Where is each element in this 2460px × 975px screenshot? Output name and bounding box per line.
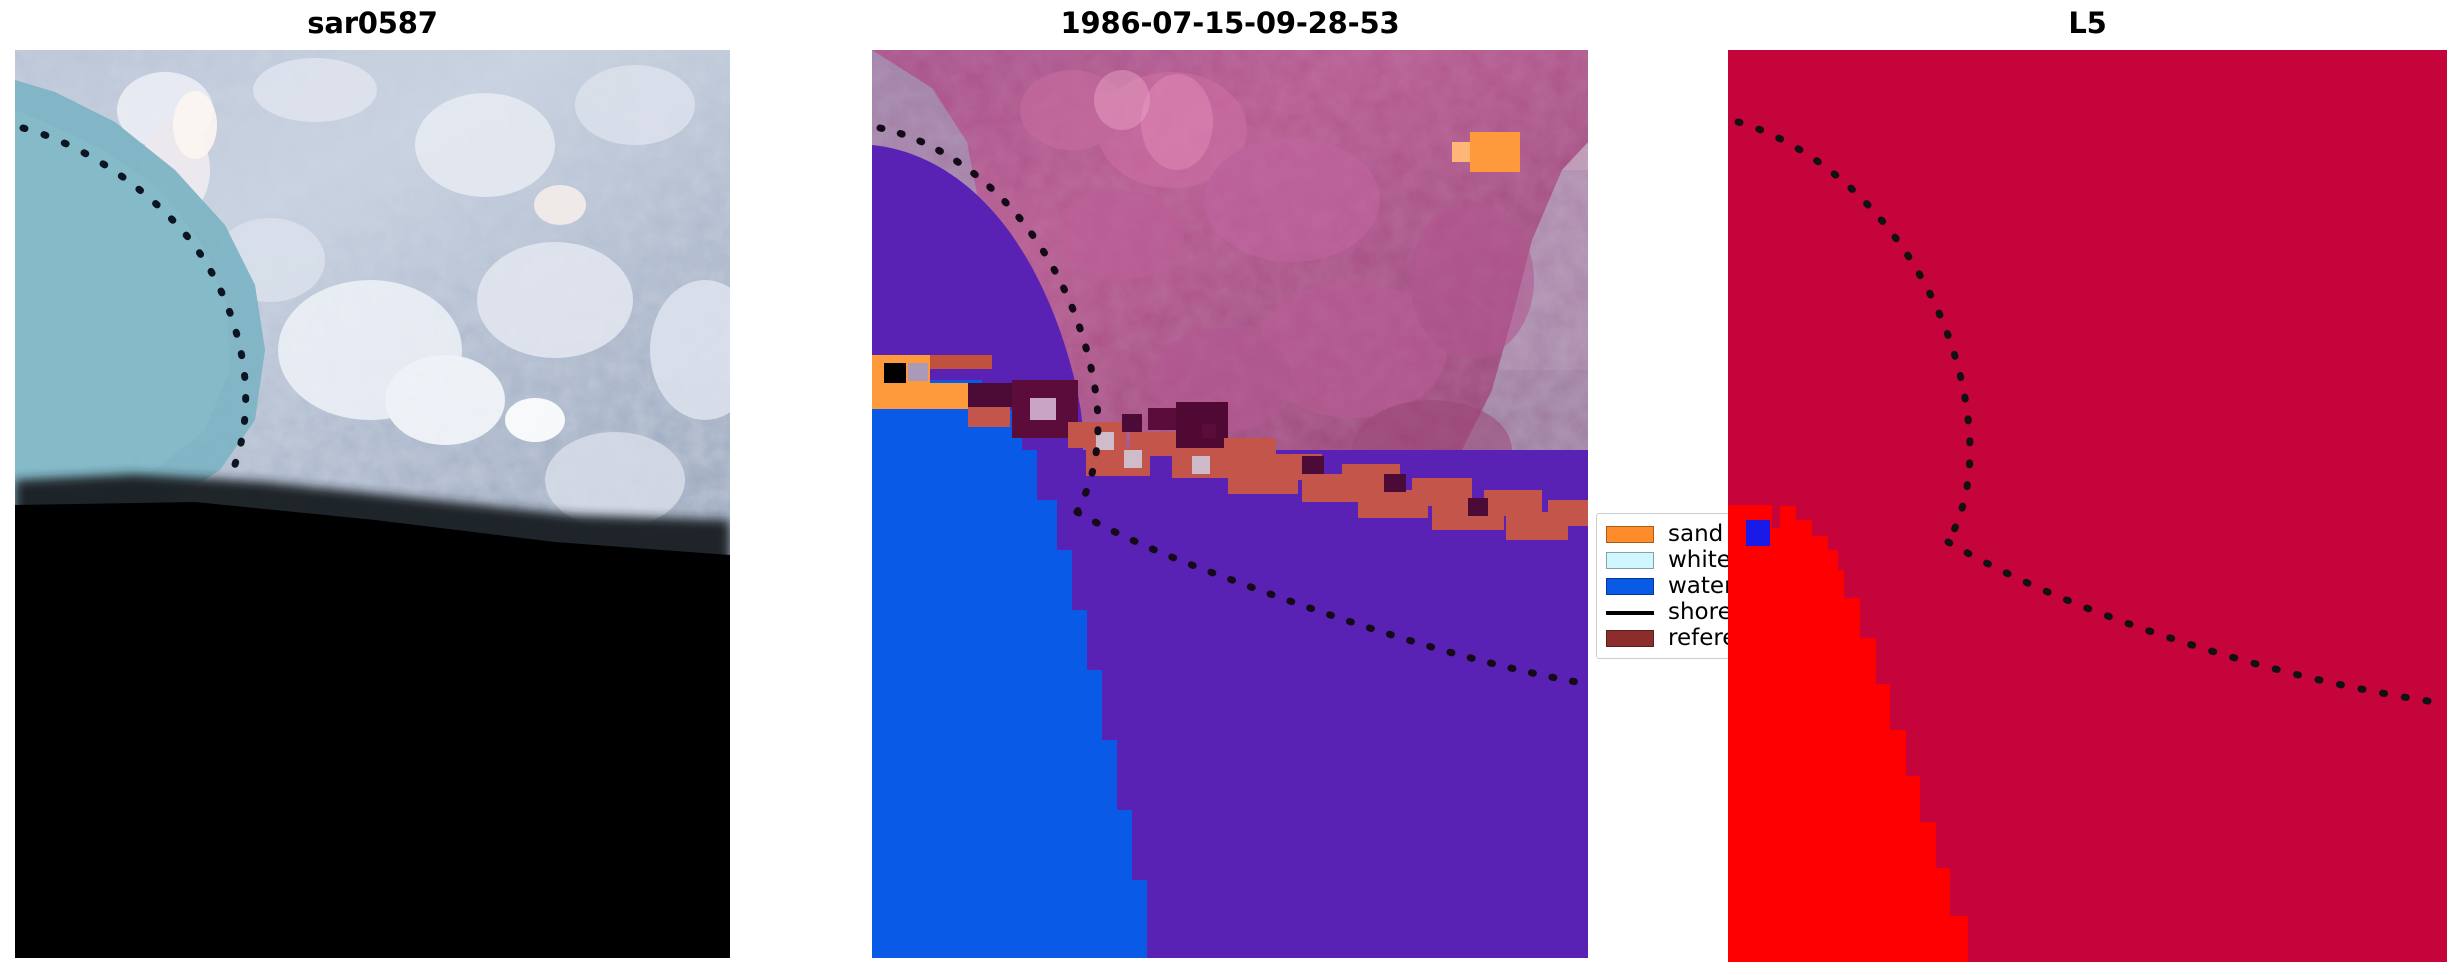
legend-label-water: water — [1668, 573, 1734, 599]
panel-title-rgb: 1986-07-15-09-28-53 — [872, 4, 1588, 42]
panel-title-sar: sar0587 — [15, 4, 730, 42]
sar-raster — [15, 50, 730, 958]
reference-shoreline-swatch-icon — [1606, 630, 1654, 647]
figure-canvas: sar0587 1986-07-15-09-28-53 L5 — [0, 0, 2460, 975]
panel-title-class: L5 — [1728, 4, 2447, 42]
rgb-raster — [872, 50, 1588, 958]
whitewater-swatch-icon — [1606, 552, 1654, 569]
sand-swatch-icon — [1606, 526, 1654, 543]
panel-sar-image — [15, 50, 730, 958]
shoreline-line-icon — [1606, 604, 1654, 621]
water-swatch-icon — [1606, 578, 1654, 595]
legend-label-sand: sand — [1668, 521, 1723, 547]
classification-raster — [1728, 50, 2447, 962]
panel-rgb-image — [872, 50, 1588, 958]
panel-classification-image — [1728, 50, 2447, 962]
